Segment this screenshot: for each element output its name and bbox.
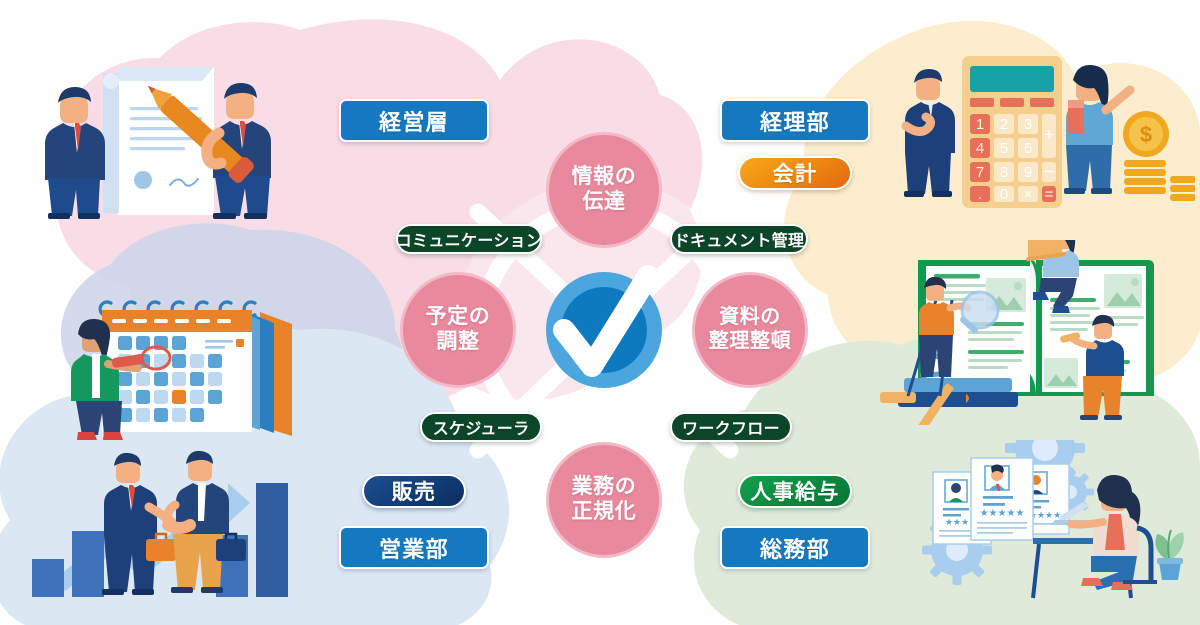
node-line-2: 正規化 — [572, 500, 637, 525]
module-label: 会計 — [773, 158, 818, 188]
central-check-badge — [546, 272, 662, 388]
feature-label: コミュニケーション — [396, 227, 543, 251]
module-pill-hr-payroll[interactable]: 人事給与 — [738, 474, 852, 508]
dept-label: 経理部 — [760, 105, 830, 137]
node-line-1: 情報の — [572, 165, 637, 190]
feature-label: ドキュメント管理 — [674, 227, 805, 251]
dept-button-general-affairs[interactable]: 総務部 — [720, 526, 870, 569]
node-line-1: 予定の — [426, 305, 491, 330]
feature-pill-communication[interactable]: コミュニケーション — [396, 224, 542, 254]
feature-pill-scheduler[interactable]: スケジューラ — [420, 412, 542, 442]
module-pill-accounting[interactable]: 会計 — [738, 156, 852, 190]
feature-label: ワークフロー — [682, 415, 780, 439]
dept-button-accounting[interactable]: 経理部 — [720, 99, 870, 142]
dept-label: 営業部 — [379, 532, 449, 564]
module-label: 販売 — [392, 476, 437, 506]
node-information-transmission[interactable]: 情報の 伝達 — [546, 132, 662, 248]
dept-button-management[interactable]: 経営層 — [339, 99, 489, 142]
node-document-organization[interactable]: 資料の 整理整頓 — [692, 272, 808, 388]
feature-label: スケジューラ — [433, 415, 530, 439]
dept-label: 総務部 — [760, 532, 830, 564]
node-line-1: 業務の — [572, 475, 637, 500]
dept-label: 経営層 — [379, 105, 449, 137]
module-pill-sales[interactable]: 販売 — [362, 474, 466, 508]
node-schedule-adjustment[interactable]: 予定の 調整 — [400, 272, 516, 388]
dept-button-sales[interactable]: 営業部 — [339, 526, 489, 569]
node-line-2: 整理整頓 — [709, 330, 791, 354]
check-badge-inner-circle — [561, 287, 647, 373]
diagram-canvas: 1 2 3 4 5 6 7 8 9 . 0 × + − = — [0, 0, 1200, 625]
node-line-2: 伝達 — [582, 190, 625, 215]
module-label: 人事給与 — [750, 476, 839, 506]
feature-pill-workflow[interactable]: ワークフロー — [670, 412, 792, 442]
node-work-standardization[interactable]: 業務の 正規化 — [546, 442, 662, 558]
node-line-2: 調整 — [436, 330, 479, 355]
feature-pill-document-management[interactable]: ドキュメント管理 — [670, 224, 808, 254]
node-line-1: 資料の — [719, 306, 781, 330]
